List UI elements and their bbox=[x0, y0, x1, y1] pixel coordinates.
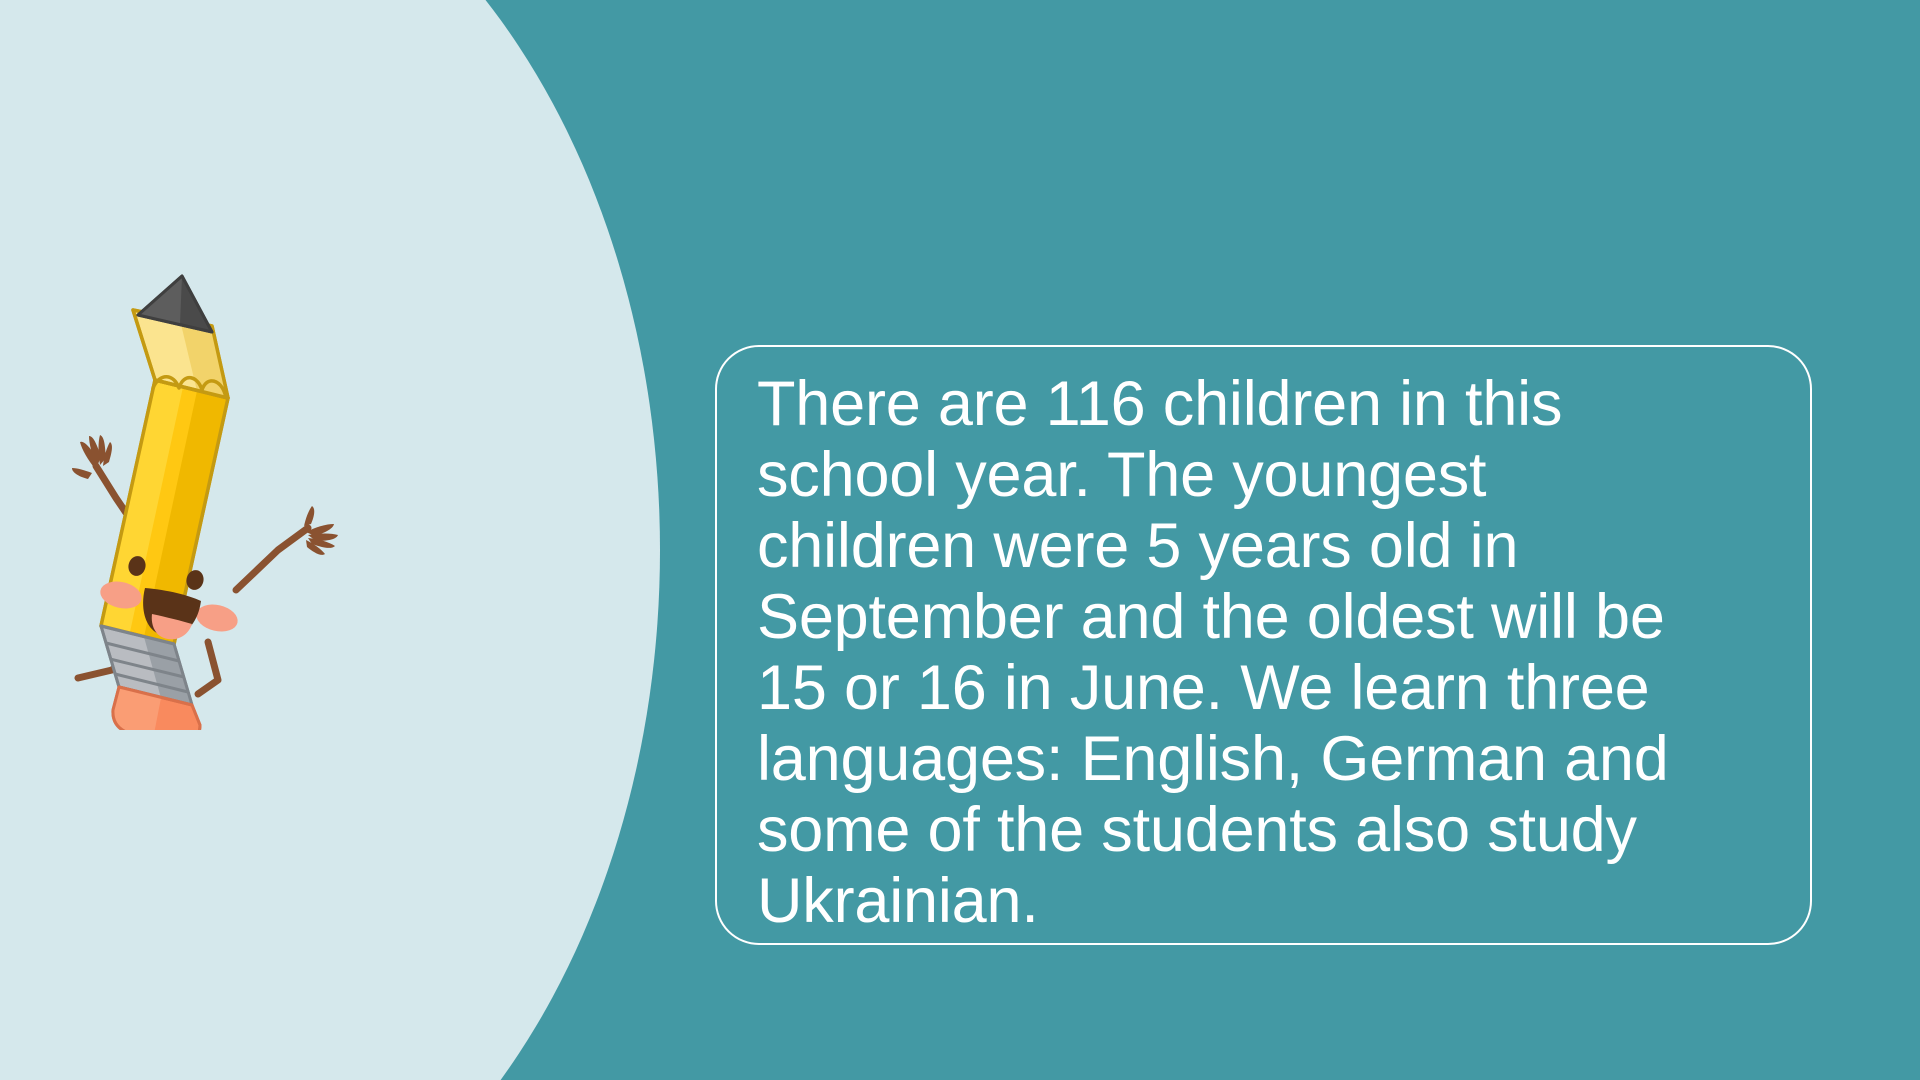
pencil-mascot-illustration bbox=[40, 270, 340, 730]
pencil-right-leg bbox=[198, 642, 218, 694]
pencil-cheek-right bbox=[194, 601, 241, 636]
slide-canvas: There are 116 children in this school ye… bbox=[0, 0, 1920, 1080]
body-text-card: There are 116 children in this school ye… bbox=[715, 345, 1812, 945]
pencil-right-arm bbox=[236, 506, 338, 590]
card-paragraph-text: There are 116 children in this school ye… bbox=[757, 369, 1717, 937]
